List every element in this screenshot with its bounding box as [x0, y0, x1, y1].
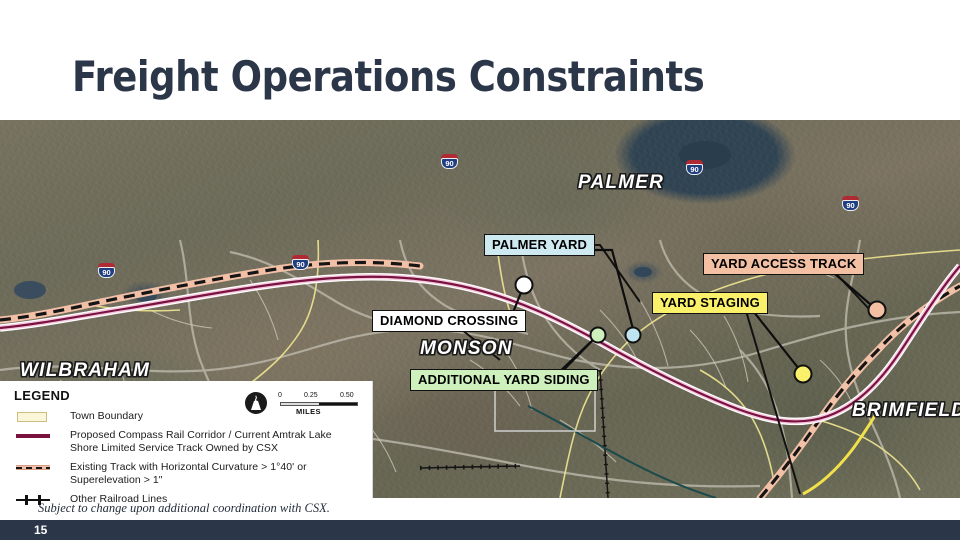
legend-item-label: Town Boundary — [70, 410, 143, 423]
legend-item-label: Existing Track with Horizontal Curvature… — [70, 461, 362, 488]
town-boundary-swatch-icon — [14, 410, 60, 424]
callout-yard-staging[interactable]: YARD STAGING — [652, 292, 768, 314]
callout-diamond-crossing[interactable]: DIAMOND CROSSING — [372, 310, 526, 332]
legend-item-curvature-track: Existing Track with Horizontal Curvature… — [14, 461, 362, 488]
legend-item-rail-corridor: Proposed Compass Rail Corridor / Current… — [14, 429, 362, 456]
scale-tick-050: 0.50 — [340, 392, 354, 399]
callout-additional-yard-siding[interactable]: ADDITIONAL YARD SIDING — [410, 369, 598, 391]
north-arrow-icon: N — [245, 392, 267, 414]
curvature-line-icon — [14, 461, 60, 475]
corridor-line-icon — [14, 429, 60, 443]
page-title: Freight Operations Constraints — [72, 52, 704, 101]
scale-unit-label: MILES — [296, 407, 321, 416]
callout-palmer-yard[interactable]: PALMER YARD — [484, 234, 595, 256]
legend-item-label: Proposed Compass Rail Corridor / Current… — [70, 429, 362, 456]
footer-bar — [0, 520, 960, 540]
north-arrow-label: N — [254, 397, 258, 403]
page-number: 15 — [34, 523, 47, 537]
scale-tick-0: 0 — [278, 392, 282, 399]
scale-tick-labels: 0 0.25 0.50 — [278, 392, 358, 402]
scale-bar-graphic — [280, 402, 358, 406]
callout-yard-access-track[interactable]: YARD ACCESS TRACK — [703, 253, 864, 275]
map-scale-bar: N 0 0.25 0.50 MILES — [240, 392, 360, 422]
slide-canvas: Freight Operations Constraints — [0, 0, 960, 540]
scale-tick-025: 0.25 — [304, 392, 318, 399]
footnote-text: Subject to change upon additional coordi… — [38, 501, 330, 516]
